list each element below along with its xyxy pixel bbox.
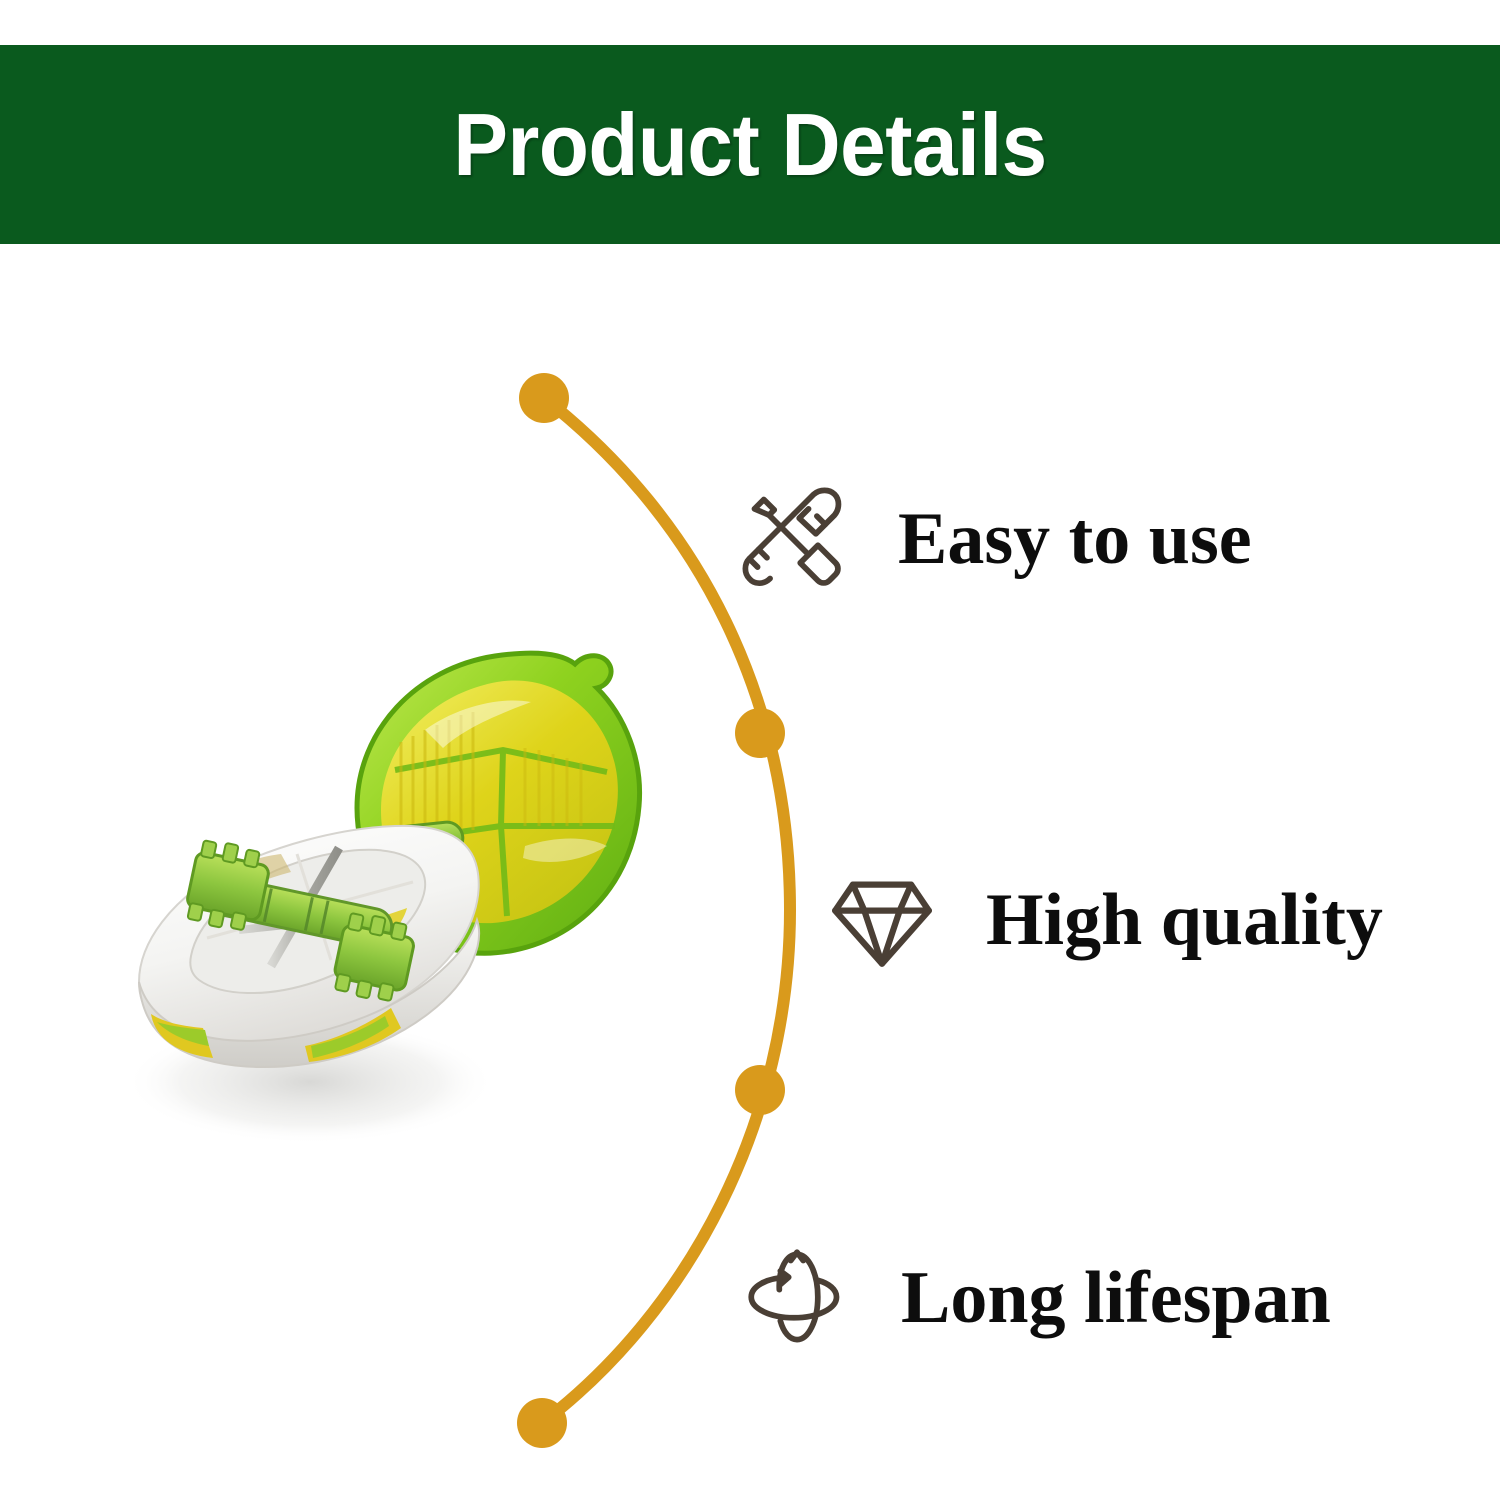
connector-dot-bottom	[517, 1398, 567, 1448]
header-band: Product Details	[0, 45, 1500, 244]
feature-high-quality: High quality	[830, 868, 1383, 972]
connector-dot-top	[519, 373, 569, 423]
diamond-icon	[830, 868, 934, 972]
product-details-infographic: Product Details	[0, 0, 1500, 1500]
connector-dot-easy-to-use	[735, 708, 785, 758]
product-image	[95, 630, 675, 1270]
page-title: Product Details	[453, 101, 1046, 189]
product-body	[139, 826, 479, 1067]
orbit-icon	[745, 1246, 849, 1350]
feature-label-long-lifespan: Long lifespan	[901, 1261, 1331, 1335]
feature-label-high-quality: High quality	[986, 883, 1383, 957]
feature-long-lifespan: Long lifespan	[745, 1246, 1331, 1350]
feature-label-easy-to-use: Easy to use	[898, 502, 1252, 576]
feature-easy-to-use: Easy to use	[742, 487, 1252, 591]
tools-icon	[742, 487, 846, 591]
connector-dot-long-lifespan	[735, 1065, 785, 1115]
